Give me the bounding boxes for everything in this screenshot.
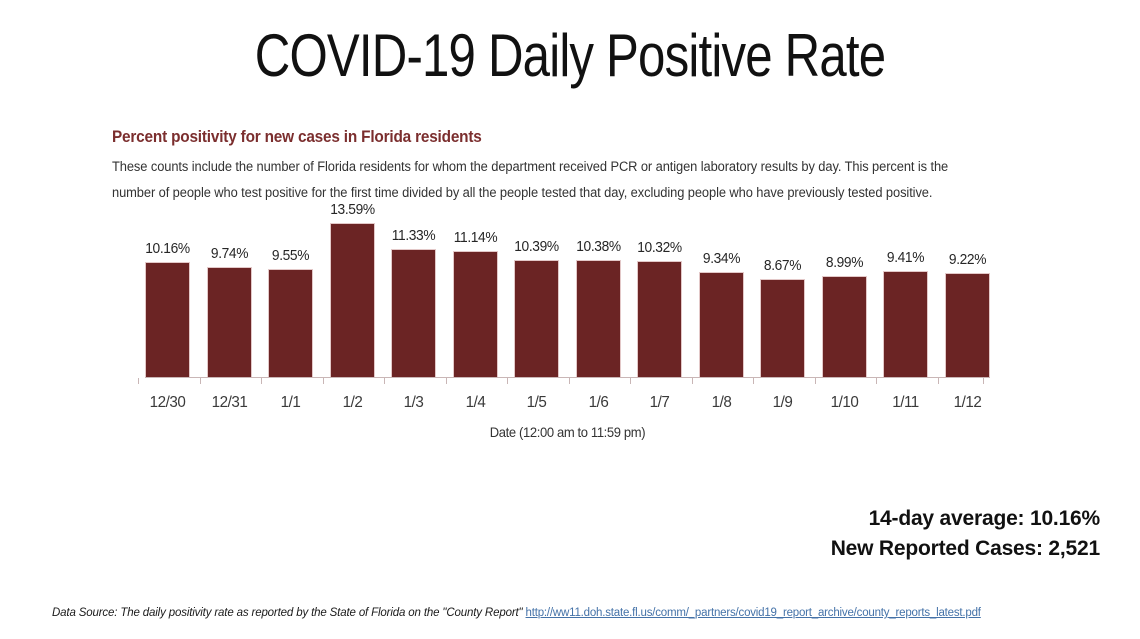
x-axis-labels: 12/3012/311/11/21/31/41/51/61/71/81/91/1…: [145, 390, 990, 412]
x-axis-label: 1/1: [269, 394, 312, 412]
bar-value-label: 8.67%: [752, 258, 814, 274]
bar-column: 9.34%: [699, 212, 744, 378]
bar: [699, 272, 744, 378]
x-axis-tick: [138, 378, 139, 384]
x-axis-tick: [753, 378, 754, 384]
bar: [145, 262, 190, 378]
bar-value-label: 10.16%: [137, 241, 199, 257]
bar: [576, 260, 621, 378]
bar: [637, 261, 682, 378]
bar-value-label: 11.33%: [383, 228, 445, 244]
bar-value-label: 10.32%: [629, 240, 691, 256]
x-axis-label: 1/8: [700, 394, 743, 412]
x-axis-label: 1/6: [577, 394, 620, 412]
x-axis-tick: [630, 378, 631, 384]
bar: [760, 279, 805, 378]
bar-value-label: 9.41%: [875, 250, 937, 266]
data-source-footer: Data Source: The daily positivity rate a…: [52, 607, 981, 619]
bar-value-label: 9.74%: [199, 246, 261, 262]
new-reported-cases: New Reported Cases: 2,521: [831, 534, 1100, 564]
x-axis-tick: [815, 378, 816, 384]
bar: [453, 251, 498, 378]
bar: [268, 269, 313, 378]
x-axis-label: 12/30: [146, 394, 189, 412]
bar-column: 9.22%: [945, 212, 990, 378]
bar: [883, 271, 928, 378]
bar: [391, 249, 436, 378]
bar-value-label: 9.34%: [691, 251, 753, 267]
bar: [514, 260, 559, 378]
positivity-bar-chart: 10.16%9.74%9.55%13.59%11.33%11.14%10.39%…: [145, 212, 990, 442]
bar-value-label: 10.39%: [506, 239, 568, 255]
x-axis-tick: [323, 378, 324, 384]
x-axis-label: 1/11: [884, 394, 927, 412]
x-axis-tick: [384, 378, 385, 384]
fourteen-day-average: 14-day average: 10.16%: [831, 504, 1100, 534]
page-title: COVID-19 Daily Positive Rate: [103, 24, 1038, 87]
bar-column: 8.99%: [822, 212, 867, 378]
chart-description: These counts include the number of Flori…: [112, 154, 981, 207]
bar-column: 11.33%: [391, 212, 436, 378]
bar: [207, 267, 252, 378]
x-axis-label: 1/2: [331, 394, 374, 412]
x-axis-tick: [200, 378, 201, 384]
bar-column: 10.16%: [145, 212, 190, 378]
x-axis-tick: [983, 378, 984, 384]
bar-column: 9.41%: [883, 212, 928, 378]
slide-canvas: COVID-19 Daily Positive Rate Percent pos…: [0, 0, 1140, 639]
bar-column: 10.39%: [514, 212, 559, 378]
bar-value-label: 10.38%: [568, 239, 630, 255]
chart-heading: Percent positivity for new cases in Flor…: [112, 128, 958, 147]
x-axis-tick: [876, 378, 877, 384]
bar-column: 9.55%: [268, 212, 313, 378]
x-axis-tick: [692, 378, 693, 384]
report-panel: Percent positivity for new cases in Flor…: [112, 128, 1022, 207]
x-axis-title: Date (12:00 am to 11:59 pm): [175, 424, 961, 440]
x-axis-tick: [507, 378, 508, 384]
x-axis-label: 12/31: [208, 394, 251, 412]
x-axis-tick: [261, 378, 262, 384]
x-axis-label: 1/7: [638, 394, 681, 412]
bar-column: 13.59%: [330, 212, 375, 378]
bar-series: 10.16%9.74%9.55%13.59%11.33%11.14%10.39%…: [145, 212, 990, 378]
x-axis-label: 1/3: [392, 394, 435, 412]
bar-column: 11.14%: [453, 212, 498, 378]
x-axis-label: 1/12: [946, 394, 989, 412]
x-axis-label: 1/10: [823, 394, 866, 412]
bar-value-label: 13.59%: [322, 202, 384, 218]
bar: [945, 273, 990, 378]
bar-column: 8.67%: [760, 212, 805, 378]
x-axis-tick: [446, 378, 447, 384]
x-axis-label: 1/5: [515, 394, 558, 412]
summary-stats: 14-day average: 10.16% New Reported Case…: [831, 504, 1100, 564]
x-axis-line: [145, 377, 990, 378]
bar-value-label: 8.99%: [814, 255, 876, 271]
bar: [330, 223, 375, 378]
bar-column: 9.74%: [207, 212, 252, 378]
data-source-text: Data Source: The daily positivity rate a…: [52, 607, 522, 619]
bar-value-label: 9.55%: [260, 248, 322, 264]
bar-value-label: 9.22%: [937, 252, 999, 268]
x-axis-label: 1/9: [761, 394, 804, 412]
bar-column: 10.32%: [637, 212, 682, 378]
bar-column: 10.38%: [576, 212, 621, 378]
bar: [822, 276, 867, 378]
x-axis-label: 1/4: [454, 394, 497, 412]
x-axis-tick: [569, 378, 570, 384]
data-source-link[interactable]: http://ww11.doh.state.fl.us/comm/_partne…: [526, 607, 981, 619]
bar-value-label: 11.14%: [445, 230, 507, 246]
x-axis-tick: [938, 378, 939, 384]
